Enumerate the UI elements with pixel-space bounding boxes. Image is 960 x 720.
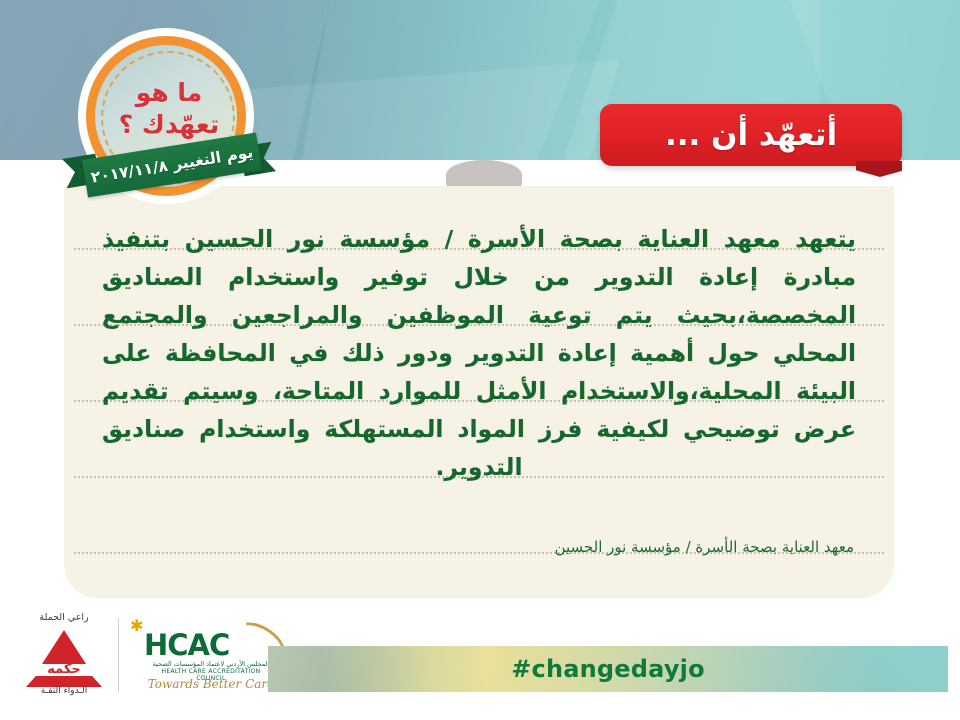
hashtag-bar: #changedayjo [268, 646, 948, 692]
hcac-name-arabic: المجلس الأردني لاعتماد المؤسسات الصحية [146, 660, 276, 668]
ribbon-text: يوم التغيير ٢٠١٧/١١/٨ [90, 143, 255, 186]
campaign-hashtag: #changedayjo [511, 655, 705, 683]
sponsor-block: راعي الحملة حكمه الـدواء الثقـة [18, 612, 110, 694]
hikma-triangle-icon [42, 630, 86, 664]
pledge-card-content: يتعهد معهد العناية بصحة الأسرة / مؤسسة ن… [64, 186, 894, 598]
pledge-body-text: يتعهد معهد العناية بصحة الأسرة / مؤسسة ن… [98, 220, 860, 486]
ribbon-body: يوم التغيير ٢٠١٧/١١/٨ [82, 132, 262, 197]
presentation-slide: يتعهد معهد العناية بصحة الأسرة / مؤسسة ن… [0, 0, 960, 720]
slide-footer: راعي الحملة حكمه الـدواء الثقـة ✱ HCAC ا… [0, 604, 960, 720]
campaign-badge: ما هو تعهّدك ؟ يوم التغيير ٢٠١٧/١١/٨ [66, 22, 272, 210]
sponsor-label: راعي الحملة [18, 612, 110, 623]
hcac-tagline: Towards Better Care [146, 677, 276, 691]
hikma-logo: حكمه الـدواء الثقـة [18, 626, 110, 694]
pledge-card: يتعهد معهد العناية بصحة الأسرة / مؤسسة ن… [64, 186, 894, 598]
hcac-logo: ✱ HCAC المجلس الأردني لاعتماد المؤسسات ا… [134, 620, 284, 692]
footer-divider [118, 618, 119, 692]
hikma-tagline: الـدواء الثقـة [18, 686, 110, 696]
pledge-title-text: أتعهّد أن ... [665, 117, 837, 153]
hcac-acronym: HCAC [144, 628, 229, 662]
hikma-name: حكمه [18, 662, 110, 677]
sparkle-icon: ✱ [130, 618, 143, 634]
pledge-signature: معهد العناية بصحة الأسرة / مؤسسة نور الح… [555, 538, 854, 556]
badge-question-line-1: ما هو [66, 78, 272, 107]
badge-ribbon: يوم التغيير ٢٠١٧/١١/٨ [66, 140, 272, 190]
pledge-title-banner: أتعهّد أن ... [600, 104, 902, 166]
